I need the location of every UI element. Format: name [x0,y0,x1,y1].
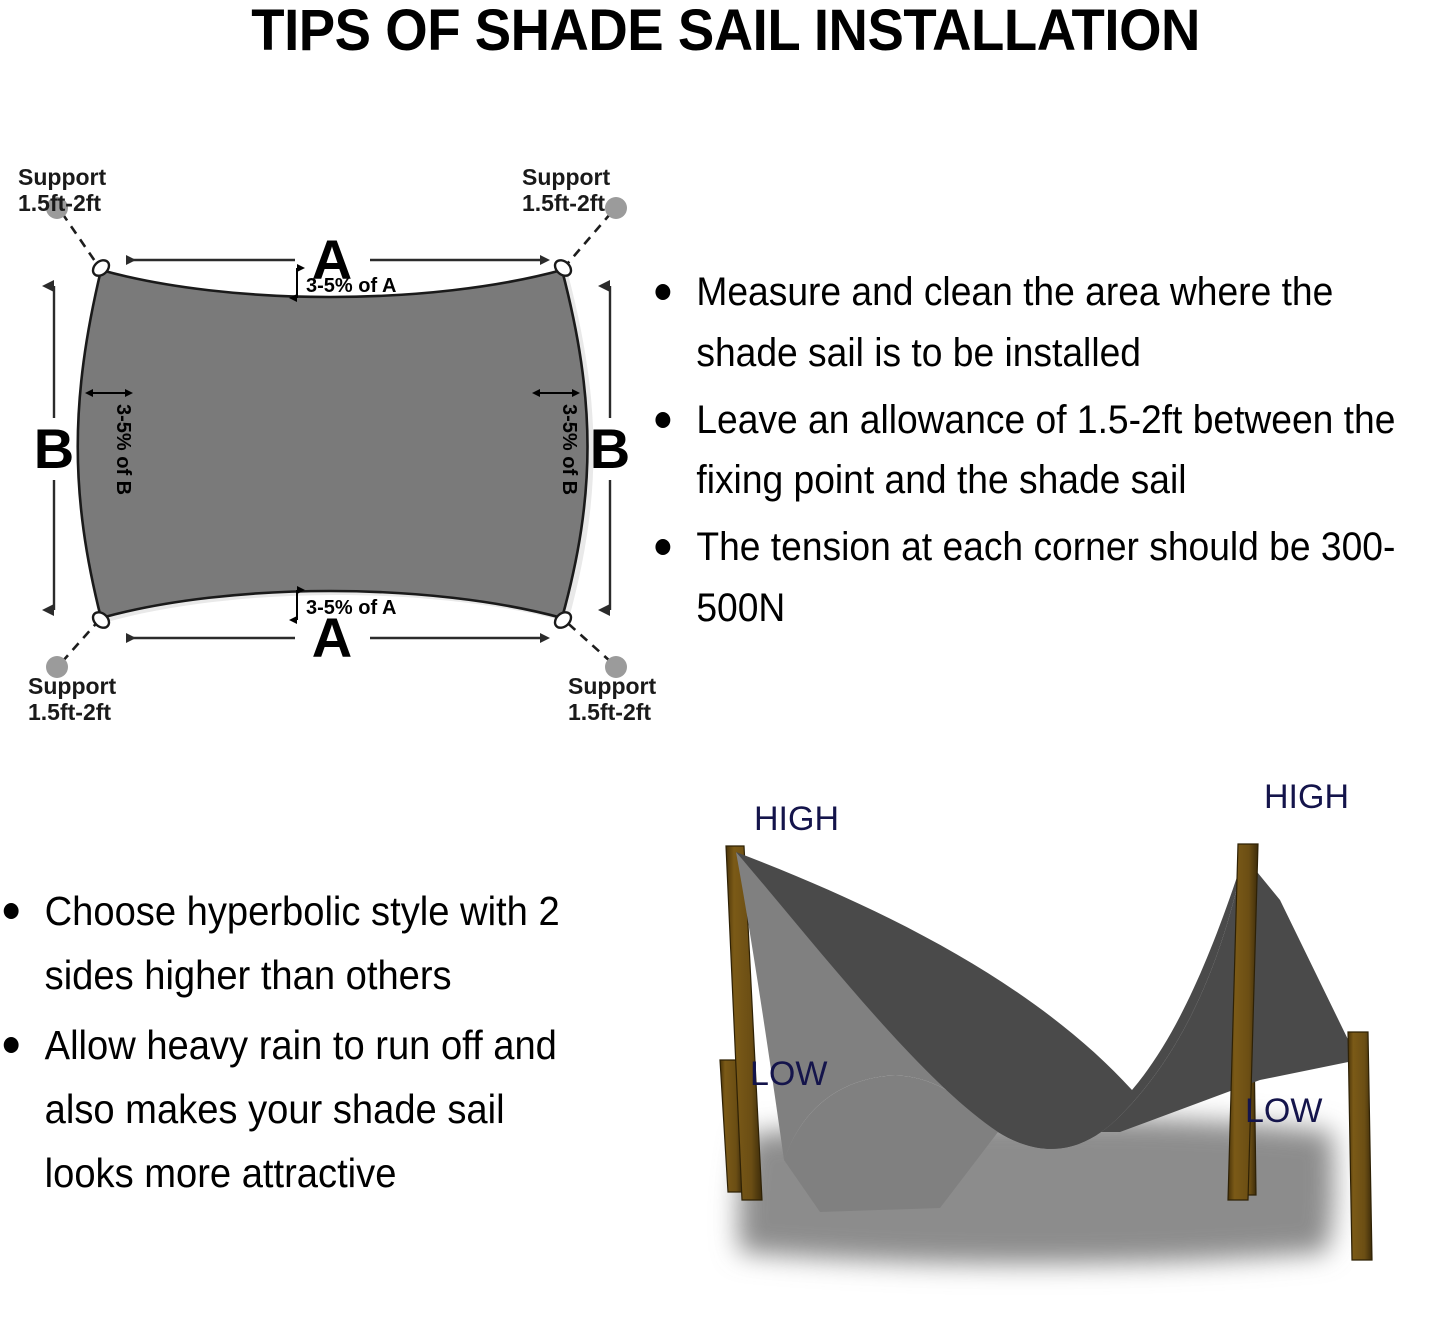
corner-label-low-left: LOW [750,1055,827,1093]
list-item: Choose hyperbolic style with 2 sides hig… [0,880,595,1008]
list-item: Leave an allowance of 1.5-2ft between th… [648,390,1396,512]
corner-label-low-right: LOW [1245,1092,1322,1130]
sag-bottom-a-label: 3-5% of A [306,597,396,619]
list-item: Allow heavy rain to run off and also mak… [0,1014,595,1206]
support-label-bottom-left-line2: 1.5ft-2ft [28,699,111,725]
pole-far-right-low [1348,1032,1372,1260]
dim-label-right-b: B [590,417,630,480]
corner-label-high-right: HIGH [1264,778,1349,816]
tether-bottom-right [562,618,611,662]
rectangular-sail-diagram: A 3-5% of A A 3-5% of A B 3-5% of B [0,150,660,750]
support-label-top-left-line1: Support [18,164,106,190]
sag-top-a-label: 3-5% of A [306,275,396,297]
support-label-bottom-right-line2: 1.5ft-2ft [568,699,651,725]
dim-label-left-b: B [34,417,74,480]
corner-label-high-left: HIGH [754,800,839,838]
support-label-top-right-line1: Support [522,164,610,190]
tip-text: Measure and clean the area where the sha… [696,270,1333,375]
list-item: Measure and clean the area where the sha… [648,262,1396,384]
tether-top-left [62,213,101,270]
sag-left-b-label: 3-5% of B [112,404,134,495]
hyperbolic-style-tips-list: Choose hyperbolic style with 2 sides hig… [0,880,640,1240]
bullet-dot-icon [655,412,670,428]
page-title: TIPS OF SHADE SAIL INSTALLATION [252,2,1201,60]
sail-fabric [78,270,588,618]
support-dot-top-right [605,197,627,219]
list-item: The tension at each corner should be 300… [648,517,1396,639]
style-tip-text: Allow heavy rain to run off and also mak… [45,1022,557,1196]
tip-text: Leave an allowance of 1.5-2ft between th… [696,398,1395,503]
support-label-top-left-line2: 1.5ft-2ft [18,190,101,216]
page-header: TIPS OF SHADE SAIL INSTALLATION [0,0,1452,62]
support-label-bottom-left-line1: Support [28,673,116,699]
sag-right-b-label: 3-5% of B [558,404,580,495]
bullet-dot-icon [4,903,19,919]
installation-tips-list: Measure and clean the area where the sha… [648,262,1452,682]
bullet-dot-icon [655,539,670,555]
support-label-bottom-right-line1: Support [568,673,656,699]
support-label-top-right-line2: 1.5ft-2ft [522,190,605,216]
hyperbolic-sail-diagram: HIGH HIGH LOW LOW [620,760,1452,1325]
bullet-dot-icon [4,1037,19,1053]
tip-text: The tension at each corner should be 300… [696,525,1395,630]
style-tip-text: Choose hyperbolic style with 2 sides hig… [45,888,560,998]
bullet-dot-icon [655,284,670,300]
tether-top-right [562,213,611,270]
